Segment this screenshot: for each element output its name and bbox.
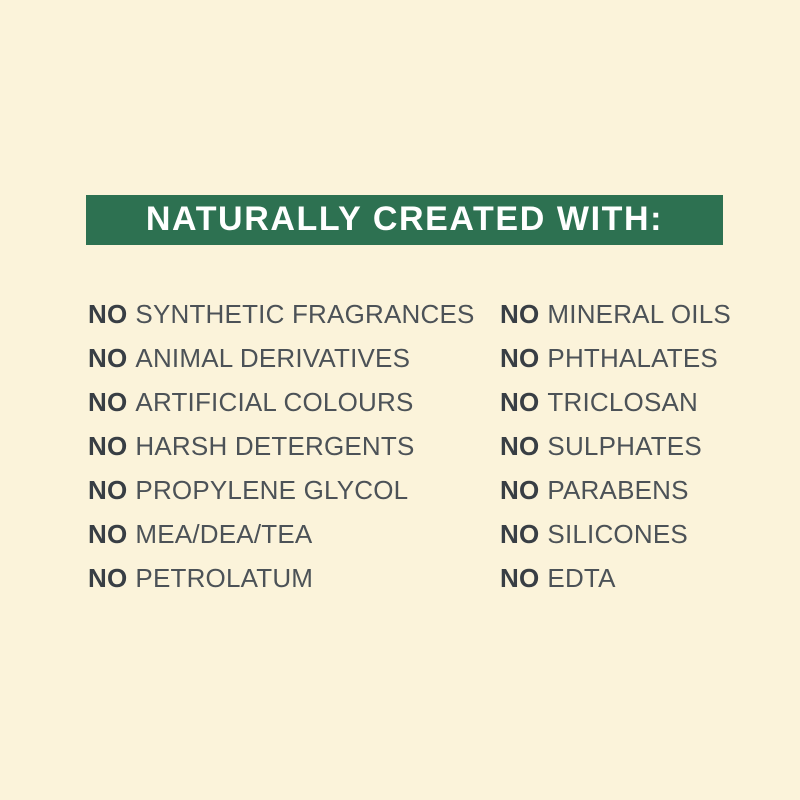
list-item-prefix: NO [500, 521, 539, 547]
list-item: NO PHTHALATES [500, 336, 790, 380]
list-item-label: SILICONES [547, 521, 688, 547]
free-from-list: NO SYNTHETIC FRAGRANCES NO ANIMAL DERIVA… [0, 292, 800, 600]
right-column: NO MINERAL OILS NO PHTHALATES NO TRICLOS… [500, 292, 790, 600]
list-item-prefix: NO [500, 433, 539, 459]
list-item-label: ANIMAL DERIVATIVES [135, 345, 410, 371]
list-item-label: SYNTHETIC FRAGRANCES [135, 301, 474, 327]
list-item-label: PETROLATUM [135, 565, 313, 591]
list-item: NO MINERAL OILS [500, 292, 790, 336]
list-item: NO MEA/DEA/TEA [88, 512, 488, 556]
header-banner: NATURALLY CREATED WITH: [86, 195, 723, 245]
list-item-prefix: NO [88, 433, 127, 459]
list-item-prefix: NO [500, 389, 539, 415]
list-item-prefix: NO [500, 345, 539, 371]
list-item: NO ARTIFICIAL COLOURS [88, 380, 488, 424]
list-item-prefix: NO [500, 565, 539, 591]
list-item-prefix: NO [88, 389, 127, 415]
list-item-label: SULPHATES [547, 433, 701, 459]
list-item-label: EDTA [547, 565, 615, 591]
list-item-label: TRICLOSAN [547, 389, 698, 415]
list-item-label: ARTIFICIAL COLOURS [135, 389, 413, 415]
list-item: NO SILICONES [500, 512, 790, 556]
list-item-label: PARABENS [547, 477, 688, 503]
list-item: NO SYNTHETIC FRAGRANCES [88, 292, 488, 336]
list-item: NO PROPYLENE GLYCOL [88, 468, 488, 512]
list-item-prefix: NO [500, 301, 539, 327]
list-item: NO EDTA [500, 556, 790, 600]
list-item: NO PARABENS [500, 468, 790, 512]
list-item: NO PETROLATUM [88, 556, 488, 600]
list-item-prefix: NO [88, 477, 127, 503]
list-item: NO ANIMAL DERIVATIVES [88, 336, 488, 380]
infographic-canvas: NATURALLY CREATED WITH: NO SYNTHETIC FRA… [0, 0, 800, 800]
list-item: NO HARSH DETERGENTS [88, 424, 488, 468]
list-item-prefix: NO [88, 345, 127, 371]
list-item-label: PHTHALATES [547, 345, 718, 371]
list-item-prefix: NO [88, 565, 127, 591]
left-column: NO SYNTHETIC FRAGRANCES NO ANIMAL DERIVA… [88, 292, 488, 600]
list-item-label: MEA/DEA/TEA [135, 521, 312, 547]
list-item-prefix: NO [88, 301, 127, 327]
list-item: NO SULPHATES [500, 424, 790, 468]
list-item-prefix: NO [88, 521, 127, 547]
list-item-prefix: NO [500, 477, 539, 503]
list-item: NO TRICLOSAN [500, 380, 790, 424]
list-item-label: PROPYLENE GLYCOL [135, 477, 408, 503]
list-item-label: MINERAL OILS [547, 301, 731, 327]
page-title: NATURALLY CREATED WITH: [146, 202, 663, 238]
list-item-label: HARSH DETERGENTS [135, 433, 414, 459]
